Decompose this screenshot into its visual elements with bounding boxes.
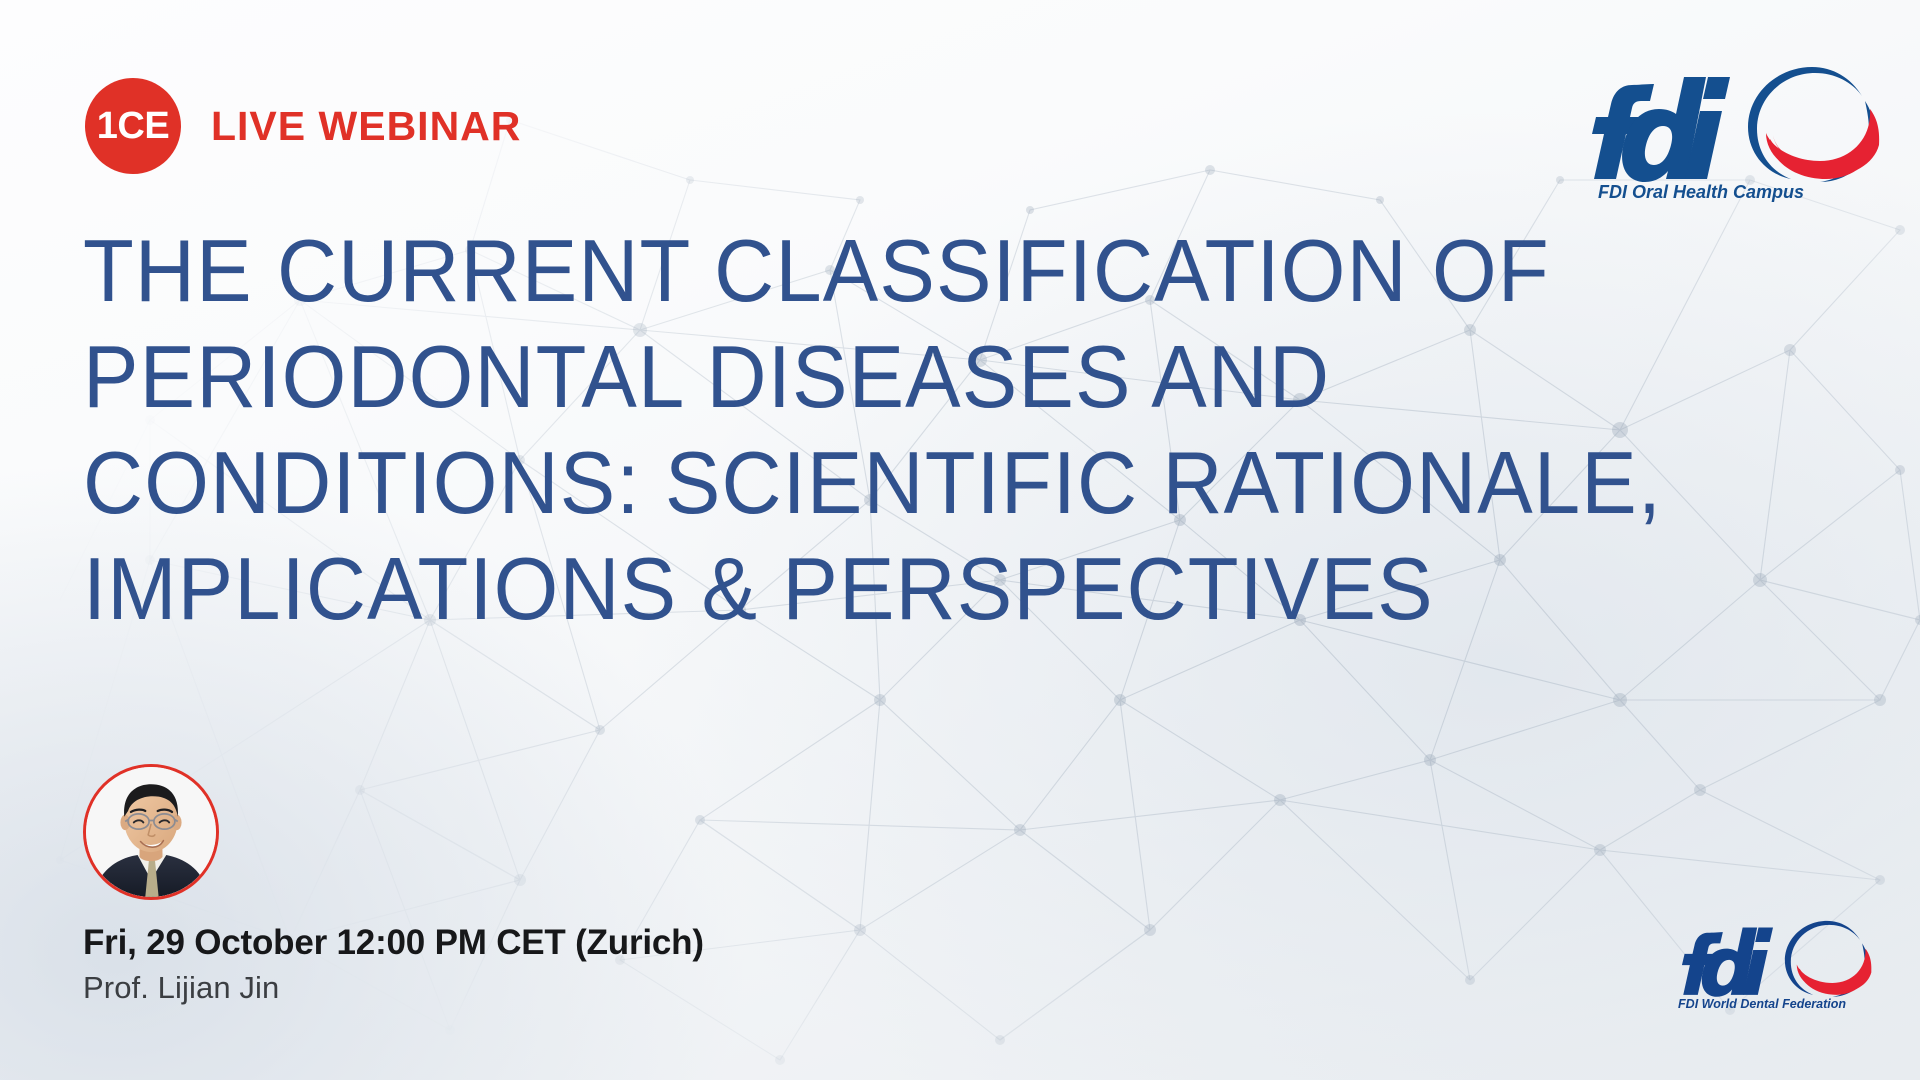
live-webinar-label: LIVE WEBINAR (211, 106, 521, 147)
webinar-datetime: Fri, 29 October 12:00 PM CET (Zurich) (83, 922, 983, 965)
title-line-3: CONDITIONS: SCIENTIFIC RATIONALE, (83, 430, 1775, 536)
ce-credit-badge: 1CE (85, 78, 181, 174)
fdi-campus-tagline: FDI Oral Health Campus (1598, 182, 1804, 202)
webinar-badge-bar: 1CE LIVE WEBINAR (85, 78, 521, 174)
ce-credit-label: 1CE (97, 107, 169, 145)
speaker-name: Prof. Lijian Jin (83, 969, 983, 1008)
webinar-banner: 1CE LIVE WEBINAR FDI Oral Health Campus (0, 0, 1920, 1080)
webinar-title: THE CURRENT CLASSIFICATION OF PERIODONTA… (83, 218, 1873, 642)
speaker-block: Fri, 29 October 12:00 PM CET (Zurich) Pr… (83, 764, 983, 1008)
fdi-federation-tagline: FDI World Dental Federation (1678, 997, 1846, 1011)
speaker-avatar (83, 764, 219, 900)
title-line-1: THE CURRENT CLASSIFICATION OF (83, 218, 1775, 324)
title-line-2: PERIODONTAL DISEASES AND (83, 324, 1775, 430)
title-line-4: IMPLICATIONS & PERSPECTIVES (83, 536, 1775, 642)
fdi-world-dental-federation-logo: FDI World Dental Federation (1674, 913, 1872, 1012)
fdi-oral-health-campus-logo: FDI Oral Health Campus (1580, 55, 1880, 203)
